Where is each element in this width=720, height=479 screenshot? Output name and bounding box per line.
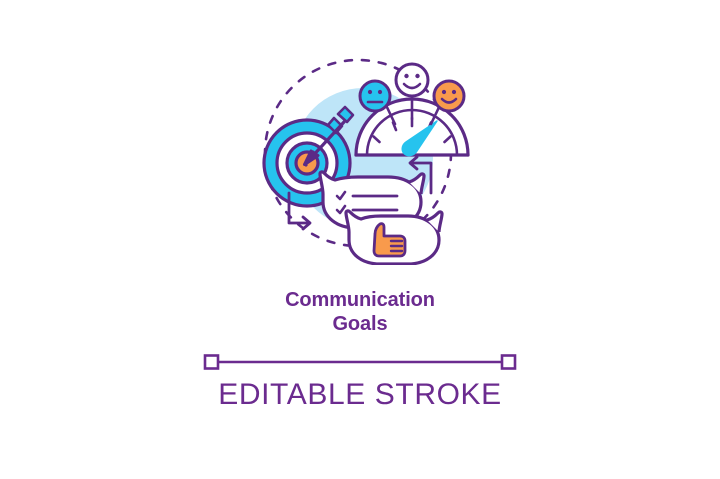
editable-stroke-label: EDITABLE STROKE [0, 378, 720, 412]
divider [0, 352, 720, 372]
happy-face-right-icon [434, 81, 464, 111]
divider-endpoint-left [205, 356, 218, 369]
divider-endpoint-right [502, 356, 515, 369]
illustration-canvas: Communication Goals EDITABLE STROKE [0, 0, 720, 479]
page-title-line-1: Communication [0, 288, 720, 312]
happy-face-center-icon [396, 64, 428, 96]
thumbs-up-speech-bubble [346, 211, 442, 264]
neutral-face-left-icon [360, 81, 390, 111]
communication-goals-illustration [245, 50, 475, 265]
page-title: Communication Goals [0, 288, 720, 337]
page-title-line-2: Goals [0, 312, 720, 336]
